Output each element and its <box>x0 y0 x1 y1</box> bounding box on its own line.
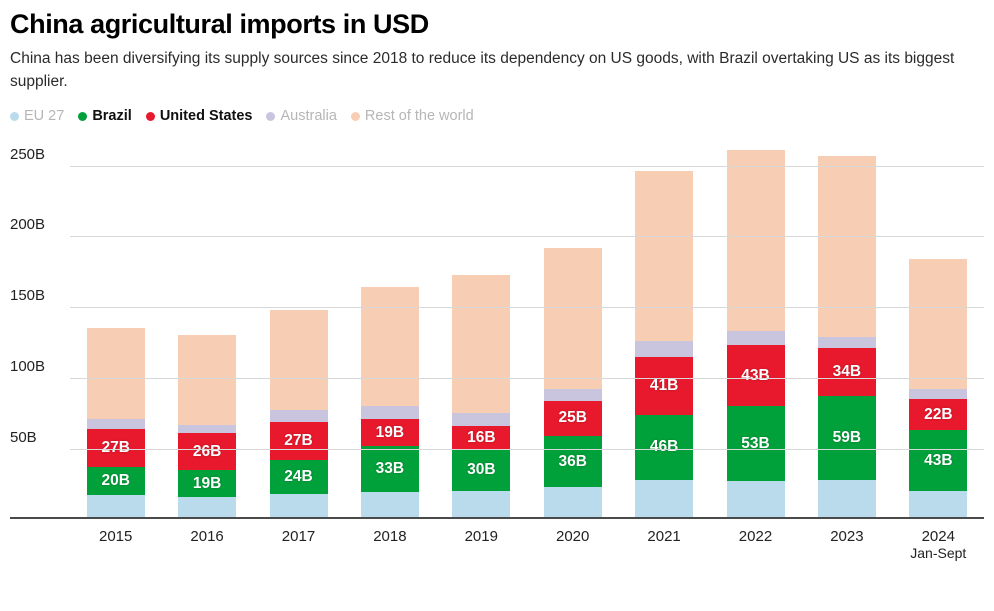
legend-item-eu-27[interactable]: EU 27 <box>10 108 64 124</box>
bar-segment-rest-of-the-world[interactable] <box>87 328 145 419</box>
x-axis-label-2021: 2021 <box>618 529 709 546</box>
bar-2022[interactable]: 53B43B <box>727 150 785 519</box>
plot-wrapper: 20B27B19B26B24B27B33B19B30B16B36B25B46B4… <box>10 137 984 549</box>
bar-segment-rest-of-the-world[interactable] <box>178 335 236 424</box>
y-axis-tick-label: 250B <box>10 146 45 166</box>
bar-segment-eu-27[interactable] <box>544 487 602 520</box>
bar-segment-australia[interactable] <box>361 406 419 419</box>
bar-segment-eu-27[interactable] <box>909 491 967 519</box>
bar-segment-value-label: 24B <box>284 469 312 485</box>
legend-swatch-icon <box>146 112 155 121</box>
plot-area: 20B27B19B26B24B27B33B19B30B16B36B25B46B4… <box>10 137 984 519</box>
x-axis-label-year: 2015 <box>99 528 132 545</box>
bar-2017[interactable]: 24B27B <box>270 310 328 519</box>
x-axis-label-year: 2023 <box>830 528 863 545</box>
x-axis-line <box>10 517 984 519</box>
bar-segment-value-label: 43B <box>924 453 952 469</box>
x-axis-label-2019: 2019 <box>436 529 527 546</box>
x-axis-label-year: 2021 <box>647 528 680 545</box>
legend-item-brazil[interactable]: Brazil <box>78 108 132 124</box>
bar-2023[interactable]: 59B34B <box>818 156 876 520</box>
bar-segment-rest-of-the-world[interactable] <box>818 156 876 337</box>
gridline <box>70 378 984 379</box>
bar-segment-australia[interactable] <box>909 389 967 399</box>
legend-swatch-icon <box>78 112 87 121</box>
bar-segment-rest-of-the-world[interactable] <box>727 150 785 331</box>
bar-segment-eu-27[interactable] <box>361 492 419 519</box>
bar-segment-united-states[interactable]: 27B <box>270 422 328 460</box>
bar-segment-united-states[interactable]: 43B <box>727 345 785 406</box>
bar-segment-australia[interactable] <box>452 413 510 426</box>
legend-item-united-states[interactable]: United States <box>146 108 253 124</box>
bar-segment-eu-27[interactable] <box>452 491 510 519</box>
bar-segment-australia[interactable] <box>270 410 328 421</box>
legend-item-label: EU 27 <box>24 108 64 124</box>
bar-segment-united-states[interactable]: 22B <box>909 399 967 430</box>
bar-segment-brazil[interactable]: 30B <box>452 449 510 491</box>
bar-segment-rest-of-the-world[interactable] <box>361 287 419 406</box>
bar-segment-value-label: 26B <box>193 444 221 460</box>
bar-segment-value-label: 22B <box>924 407 952 423</box>
bar-segment-united-states[interactable]: 34B <box>818 348 876 396</box>
legend-item-rest-of-the-world[interactable]: Rest of the world <box>351 108 474 124</box>
legend-item-label: Brazil <box>92 108 132 124</box>
bar-segment-rest-of-the-world[interactable] <box>270 310 328 410</box>
bar-segment-united-states[interactable]: 16B <box>452 426 510 449</box>
bar-segment-rest-of-the-world[interactable] <box>452 275 510 414</box>
bars-layer: 20B27B19B26B24B27B33B19B30B16B36B25B46B4… <box>10 137 984 519</box>
legend-swatch-icon <box>266 112 275 121</box>
bar-2020[interactable]: 36B25B <box>544 248 602 520</box>
legend-item-australia[interactable]: Australia <box>266 108 336 124</box>
gridline <box>70 307 984 308</box>
gridline <box>70 166 984 167</box>
bar-segment-value-label: 59B <box>833 430 861 446</box>
x-axis-label-year: 2022 <box>739 528 772 545</box>
x-axis-label-year: 2020 <box>556 528 589 545</box>
bar-2024[interactable]: 43B22B <box>909 259 967 519</box>
bar-2019[interactable]: 30B16B <box>452 275 510 520</box>
legend-item-label: Australia <box>280 108 336 124</box>
x-axis-labels: 2015201620172018201920202021202220232024… <box>10 521 984 567</box>
bar-segment-value-label: 25B <box>558 410 586 426</box>
y-axis-tick-label: 100B <box>10 358 45 378</box>
bar-segment-united-states[interactable]: 19B <box>361 419 419 446</box>
bar-segment-brazil[interactable]: 33B <box>361 446 419 493</box>
y-axis-tick-label: 50B <box>10 429 37 449</box>
bar-segment-brazil[interactable]: 59B <box>818 396 876 479</box>
x-axis-label-year: 2019 <box>465 528 498 545</box>
bar-segment-australia[interactable] <box>818 337 876 348</box>
bar-2015[interactable]: 20B27B <box>87 328 145 519</box>
bar-2018[interactable]: 33B19B <box>361 287 419 519</box>
bar-segment-brazil[interactable]: 36B <box>544 436 602 487</box>
x-axis-label-2018: 2018 <box>344 529 435 546</box>
x-axis-label-year: 2024 <box>922 528 955 545</box>
gridline <box>70 449 984 450</box>
bar-segment-eu-27[interactable] <box>727 481 785 519</box>
x-axis-label-2024: 2024Jan-Sept <box>893 529 984 561</box>
bar-segment-brazil[interactable]: 24B <box>270 460 328 494</box>
bar-segment-brazil[interactable]: 20B <box>87 467 145 495</box>
bar-segment-australia[interactable] <box>178 425 236 433</box>
chart-subtitle: China has been diversifying its supply s… <box>10 48 975 93</box>
bar-segment-value-label: 27B <box>284 433 312 449</box>
bar-segment-eu-27[interactable] <box>178 497 236 520</box>
bar-segment-rest-of-the-world[interactable] <box>544 248 602 389</box>
bar-segment-brazil[interactable]: 19B <box>178 470 236 497</box>
x-axis-label-2023: 2023 <box>801 529 892 546</box>
x-axis-label-year: 2018 <box>373 528 406 545</box>
bar-segment-value-label: 36B <box>558 454 586 470</box>
legend-swatch-icon <box>10 112 19 121</box>
bar-segment-brazil[interactable]: 46B <box>635 415 693 480</box>
bar-segment-brazil[interactable]: 43B <box>909 430 967 491</box>
y-axis-tick-label: 150B <box>10 287 45 307</box>
bar-segment-rest-of-the-world[interactable] <box>909 259 967 389</box>
bar-segment-value-label: 19B <box>376 425 404 441</box>
x-axis-label-2020: 2020 <box>527 529 618 546</box>
page-title: China agricultural imports in USD <box>10 0 984 40</box>
bar-segment-eu-27[interactable] <box>635 480 693 520</box>
legend-item-label: Rest of the world <box>365 108 474 124</box>
x-axis-label-year: 2016 <box>190 528 223 545</box>
x-axis-label-2022: 2022 <box>710 529 801 546</box>
bar-2021[interactable]: 46B41B <box>635 171 693 519</box>
bar-segment-value-label: 30B <box>467 462 495 478</box>
bar-segment-eu-27[interactable] <box>87 495 145 519</box>
bar-segment-value-label: 20B <box>101 473 129 489</box>
bar-segment-australia[interactable] <box>635 341 693 357</box>
bar-segment-rest-of-the-world[interactable] <box>635 171 693 341</box>
y-axis-tick-label: 200B <box>10 216 45 236</box>
bar-segment-brazil[interactable]: 53B <box>727 406 785 481</box>
x-axis-label-2015: 2015 <box>70 529 161 546</box>
bar-segment-australia[interactable] <box>544 389 602 400</box>
bar-segment-value-label: 41B <box>650 378 678 394</box>
x-axis-label-2017: 2017 <box>253 529 344 546</box>
bar-segment-australia[interactable] <box>727 331 785 345</box>
bar-segment-value-label: 16B <box>467 430 495 446</box>
chart-root: China agricultural imports in USD China … <box>0 0 994 611</box>
bar-segment-united-states[interactable]: 26B <box>178 433 236 470</box>
chart-legend: EU 27BrazilUnited StatesAustraliaRest of… <box>10 107 984 125</box>
bar-segment-value-label: 46B <box>650 439 678 455</box>
legend-item-label: United States <box>160 108 253 124</box>
bar-2016[interactable]: 19B26B <box>178 335 236 519</box>
x-axis-label-2016: 2016 <box>161 529 252 546</box>
x-axis-label-sublabel: Jan-Sept <box>893 546 984 562</box>
legend-swatch-icon <box>351 112 360 121</box>
bar-segment-value-label: 19B <box>193 476 221 492</box>
bar-segment-value-label: 33B <box>376 461 404 477</box>
bar-segment-australia[interactable] <box>87 419 145 429</box>
x-axis-label-year: 2017 <box>282 528 315 545</box>
bar-segment-eu-27[interactable] <box>818 480 876 520</box>
gridline <box>70 236 984 237</box>
bar-segment-united-states[interactable]: 41B <box>635 357 693 415</box>
bar-segment-eu-27[interactable] <box>270 494 328 519</box>
bar-segment-united-states[interactable]: 25B <box>544 401 602 436</box>
bar-segment-value-label: 43B <box>741 368 769 384</box>
